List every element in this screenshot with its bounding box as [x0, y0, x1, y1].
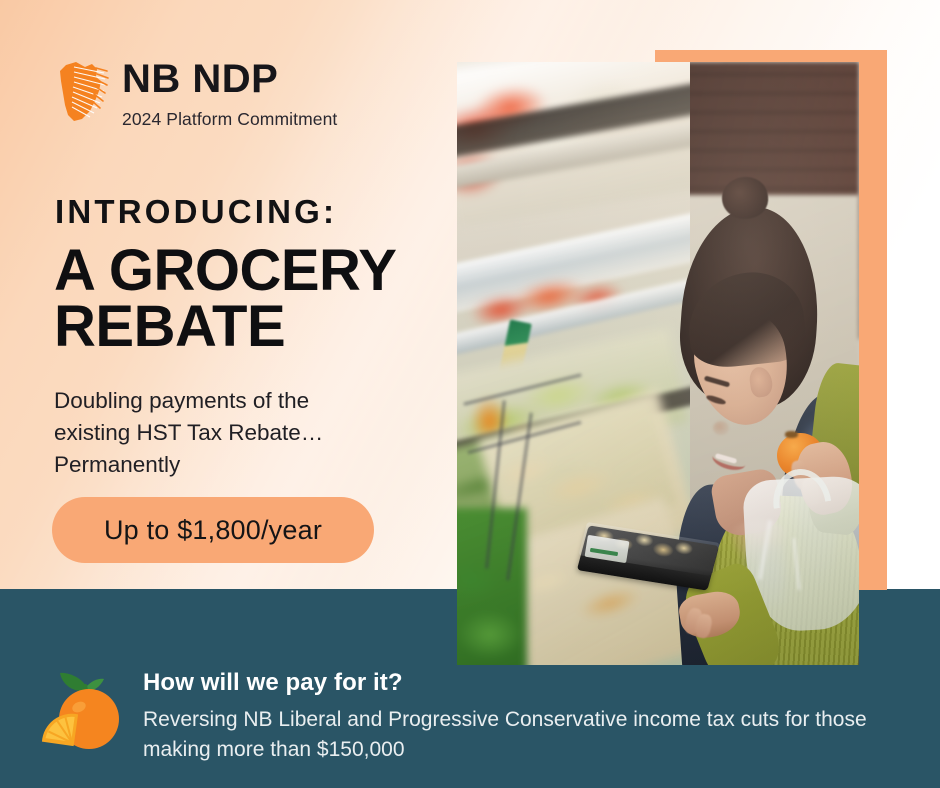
orange-fruit-icon [30, 660, 134, 764]
new-brunswick-map-icon [52, 59, 112, 127]
headline-kicker: INTRODUCING: [55, 193, 337, 231]
headline-main: A GROCERY REBATE [54, 243, 474, 354]
headline-line-1: A GROCERY [54, 243, 474, 299]
brand-tagline: 2024 Platform Commitment [122, 109, 337, 130]
brand-name: NB NDP [122, 59, 337, 99]
amount-pill-badge[interactable]: Up to $1,800/year [52, 497, 374, 563]
footer-answer-body: Reversing NB Liberal and Progressive Con… [143, 705, 903, 766]
poster-canvas: NB NDP 2024 Platform Commitment INTRODUC… [0, 0, 940, 788]
grocery-shopper-photo [457, 62, 859, 665]
headline-line-2: REBATE [54, 299, 474, 355]
headline-subtext: Doubling payments of the existing HST Ta… [54, 385, 384, 481]
photo-shopper-figure [457, 62, 859, 665]
photo-orange-stem [785, 431, 798, 438]
brand-lockup: NB NDP 2024 Platform Commitment [52, 57, 337, 130]
footer-question-title: How will we pay for it? [143, 669, 403, 697]
photo-nose [713, 421, 729, 435]
